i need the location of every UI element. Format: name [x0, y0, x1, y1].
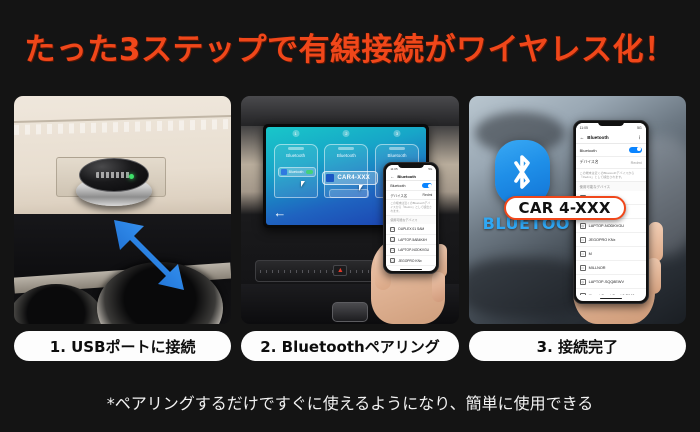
dongle-status-led: [129, 174, 134, 179]
device-name: LAPTOP-NODKVGU: [589, 224, 624, 228]
list-item[interactable]: ☐DUPLEX 01 SAM: [386, 224, 436, 235]
car-device-callout: CAR 4-XXX: [504, 196, 626, 220]
device-name: JEGOPRO KNx: [589, 238, 616, 242]
list-item[interactable]: □JEGOPRO KNx: [576, 233, 646, 247]
home-indicator: [386, 267, 436, 271]
caption-step-1-text: 1. USBポートに接続: [50, 336, 196, 357]
phone-icon: ☐: [390, 258, 395, 263]
phone-icon: □: [580, 237, 586, 243]
air-vent: [255, 260, 375, 282]
step-1-phone-illustration: Bluetooth Bluetooth: [274, 144, 318, 198]
cup-holder-left: [14, 284, 104, 324]
step-3-badge: 3: [394, 130, 401, 137]
phone-notch: [398, 163, 424, 168]
available-devices-header: 使用可能なデバイス: [386, 216, 436, 224]
bluetooth-icon: [509, 151, 535, 195]
phone-app-bar: ← Bluetooth: [386, 172, 436, 181]
list-item[interactable]: ◎LAPTOP-SQQ8EWV: [576, 275, 646, 289]
status-signal: 5G: [428, 167, 432, 171]
more-options-icon[interactable]: ⋮: [637, 135, 642, 141]
step-1-bluetooth-row: Bluetooth: [278, 167, 316, 177]
dongle-brand-logo: [96, 172, 130, 178]
device-name-row[interactable]: デバイス名 Redmi: [576, 157, 646, 169]
step-1-title: Bluetooth: [275, 153, 317, 158]
caption-step-3: 3. 接続完了: [469, 331, 686, 361]
bluetooth-icon: [281, 169, 287, 175]
bluetooth-master-row[interactable]: Bluetooth: [576, 144, 646, 157]
callout-text: CAR 4-XXX: [519, 199, 611, 217]
cursor-icon: [301, 181, 308, 187]
panel-bluetooth-pairing[interactable]: ▲ 1 Bluetooth Bluetooth: [241, 96, 458, 324]
device-name: LAPTOP-5AB4K4H: [398, 238, 427, 242]
phone-notch: [389, 147, 405, 150]
device-icon: □: [580, 251, 586, 257]
gear-knob[interactable]: [332, 302, 368, 322]
step-panel-row: ▲ 1 Bluetooth Bluetooth: [14, 96, 686, 324]
device-name-label: デバイス名: [580, 160, 599, 165]
list-item[interactable]: ☐JEGOPRO KNx: [386, 256, 436, 267]
bluetooth-label: Bluetooth: [390, 184, 405, 188]
finger: [648, 222, 663, 262]
back-arrow-icon[interactable]: ←: [390, 174, 394, 179]
caption-row: 1. USBポートに接続 2. Bluetoothペアリング 3. 接続完了: [14, 331, 686, 361]
step-1-row-label: Bluetooth: [289, 170, 304, 174]
dongle-black-top: [79, 158, 149, 192]
dashboard-top-trim: [241, 96, 458, 126]
caption-step-2: 2. Bluetoothペアリング: [241, 331, 458, 361]
step-2-title: Bluetooth: [325, 153, 367, 158]
laptop-icon: ◎: [580, 223, 586, 229]
back-arrow-icon[interactable]: ←: [580, 135, 585, 140]
bluetooth-label: Bluetooth: [580, 148, 597, 153]
hazard-light-button[interactable]: ▲: [333, 265, 347, 276]
list-item[interactable]: ◎LAPTOP-NODKVGU: [576, 219, 646, 233]
laptop-icon: ☐: [390, 237, 395, 242]
device-name: MILLNOR: [589, 266, 606, 270]
device-name: LAPTOP-SQQ8EWV: [589, 280, 624, 284]
home-indicator: [576, 295, 646, 301]
bluetooth-switch[interactable]: [629, 147, 642, 154]
background-blur-shape: [469, 258, 589, 318]
footer-note: *ペアリングするだけですぐに使えるようになり、簡単に使用できる: [0, 372, 700, 432]
bluetooth-toggle[interactable]: [306, 170, 313, 174]
screen-step-2: 2 Bluetooth CAR4-XXX: [323, 136, 370, 219]
step-2-badge: 2: [343, 130, 350, 137]
step-3-title: Bluetooth: [376, 153, 418, 158]
pairing-note: この端末は近くのBluetoothデバイスから「Redmi」として検出されます。: [386, 200, 436, 216]
laptop-icon: ☐: [390, 248, 395, 253]
device-name: M: [589, 252, 592, 256]
device-name: JEGOPRO KNx: [398, 259, 421, 263]
device-name-value: Redmi: [423, 193, 433, 197]
headline-banner: たった3ステップで有線接続がワイヤレス化！: [0, 0, 700, 92]
available-devices-header: 使用可能なデバイス: [576, 182, 646, 191]
device-list[interactable]: ☐DUPLEX 01 SAM ☐LAPTOP-5AB4K4H ☐LAPTOP-N…: [386, 224, 436, 267]
panel-usb-port[interactable]: [14, 96, 231, 324]
device-icon: □: [580, 265, 586, 271]
caption-step-2-text: 2. Bluetoothペアリング: [260, 336, 439, 357]
status-signal: 5G: [637, 126, 642, 130]
overlay-phone-panel2[interactable]: 11:05 5G ← Bluetooth Bluetooth デバイス名 Red…: [383, 162, 439, 274]
device-name-row[interactable]: デバイス名 Redmi: [386, 191, 436, 200]
status-time: 11:05: [390, 167, 397, 171]
list-item[interactable]: □MILLNOR: [576, 261, 646, 275]
phone-notch: [338, 147, 354, 150]
phone-notch: [288, 147, 304, 150]
laptop-icon: ◎: [580, 279, 586, 285]
step-2-device-name: CAR4-XXX: [337, 175, 370, 181]
back-arrow-icon[interactable]: ←: [273, 206, 286, 219]
device-name-value: Redmi: [631, 161, 642, 165]
headline-text: たった3ステップで有線接続がワイヤレス化！: [24, 24, 675, 69]
footer-text: *ペアリングするだけですぐに使えるようになり、簡単に使用できる: [107, 390, 594, 414]
bluetooth-master-row[interactable]: Bluetooth: [386, 181, 436, 191]
cursor-icon: [359, 185, 366, 191]
panel-connected[interactable]: BLUETOOTH 11:05 5G ← Bluetooth ⋮: [469, 96, 686, 324]
device-icon: ☐: [390, 227, 395, 232]
step-2-device-pill[interactable]: CAR4-XXX: [322, 171, 378, 185]
hazard-triangle-icon: ▲: [337, 267, 344, 274]
step-2-phone-illustration: Bluetooth CAR4-XXX: [324, 144, 368, 198]
phone-app-bar: ← Bluetooth ⋮: [576, 132, 646, 144]
blue-arrow-icon: [110, 216, 188, 294]
device-name-label: デバイス名: [390, 193, 407, 198]
caption-step-3-text: 3. 接続完了: [537, 336, 618, 357]
status-time: 11:05: [580, 126, 588, 130]
finger: [432, 272, 445, 302]
list-item[interactable]: ☐LAPTOP-NODKVGU: [386, 245, 436, 256]
app-title: Bluetooth: [587, 135, 608, 140]
phone-screen: 11:05 5G ← Bluetooth Bluetooth デバイス名 Red…: [386, 165, 436, 271]
list-item[interactable]: □M: [576, 247, 646, 261]
app-title: Bluetooth: [397, 174, 416, 179]
bluetooth-icon: [326, 174, 334, 182]
bluetooth-switch[interactable]: [422, 183, 432, 188]
device-name: DUPLEX 01 SAM: [398, 227, 424, 231]
device-name: LAPTOP-NODKVGU: [398, 248, 429, 252]
usb-dongle-device: [76, 158, 152, 206]
vent-slats: [260, 270, 372, 273]
step-1-badge: 1: [292, 130, 299, 137]
list-item[interactable]: ☐LAPTOP-5AB4K4H: [386, 235, 436, 246]
caption-step-1: 1. USBポートに接続: [14, 331, 231, 361]
phone-notch: [598, 121, 624, 126]
pairing-note: この端末は近くのBluetoothデバイスから「Redmi」として検出されます。: [576, 169, 646, 182]
